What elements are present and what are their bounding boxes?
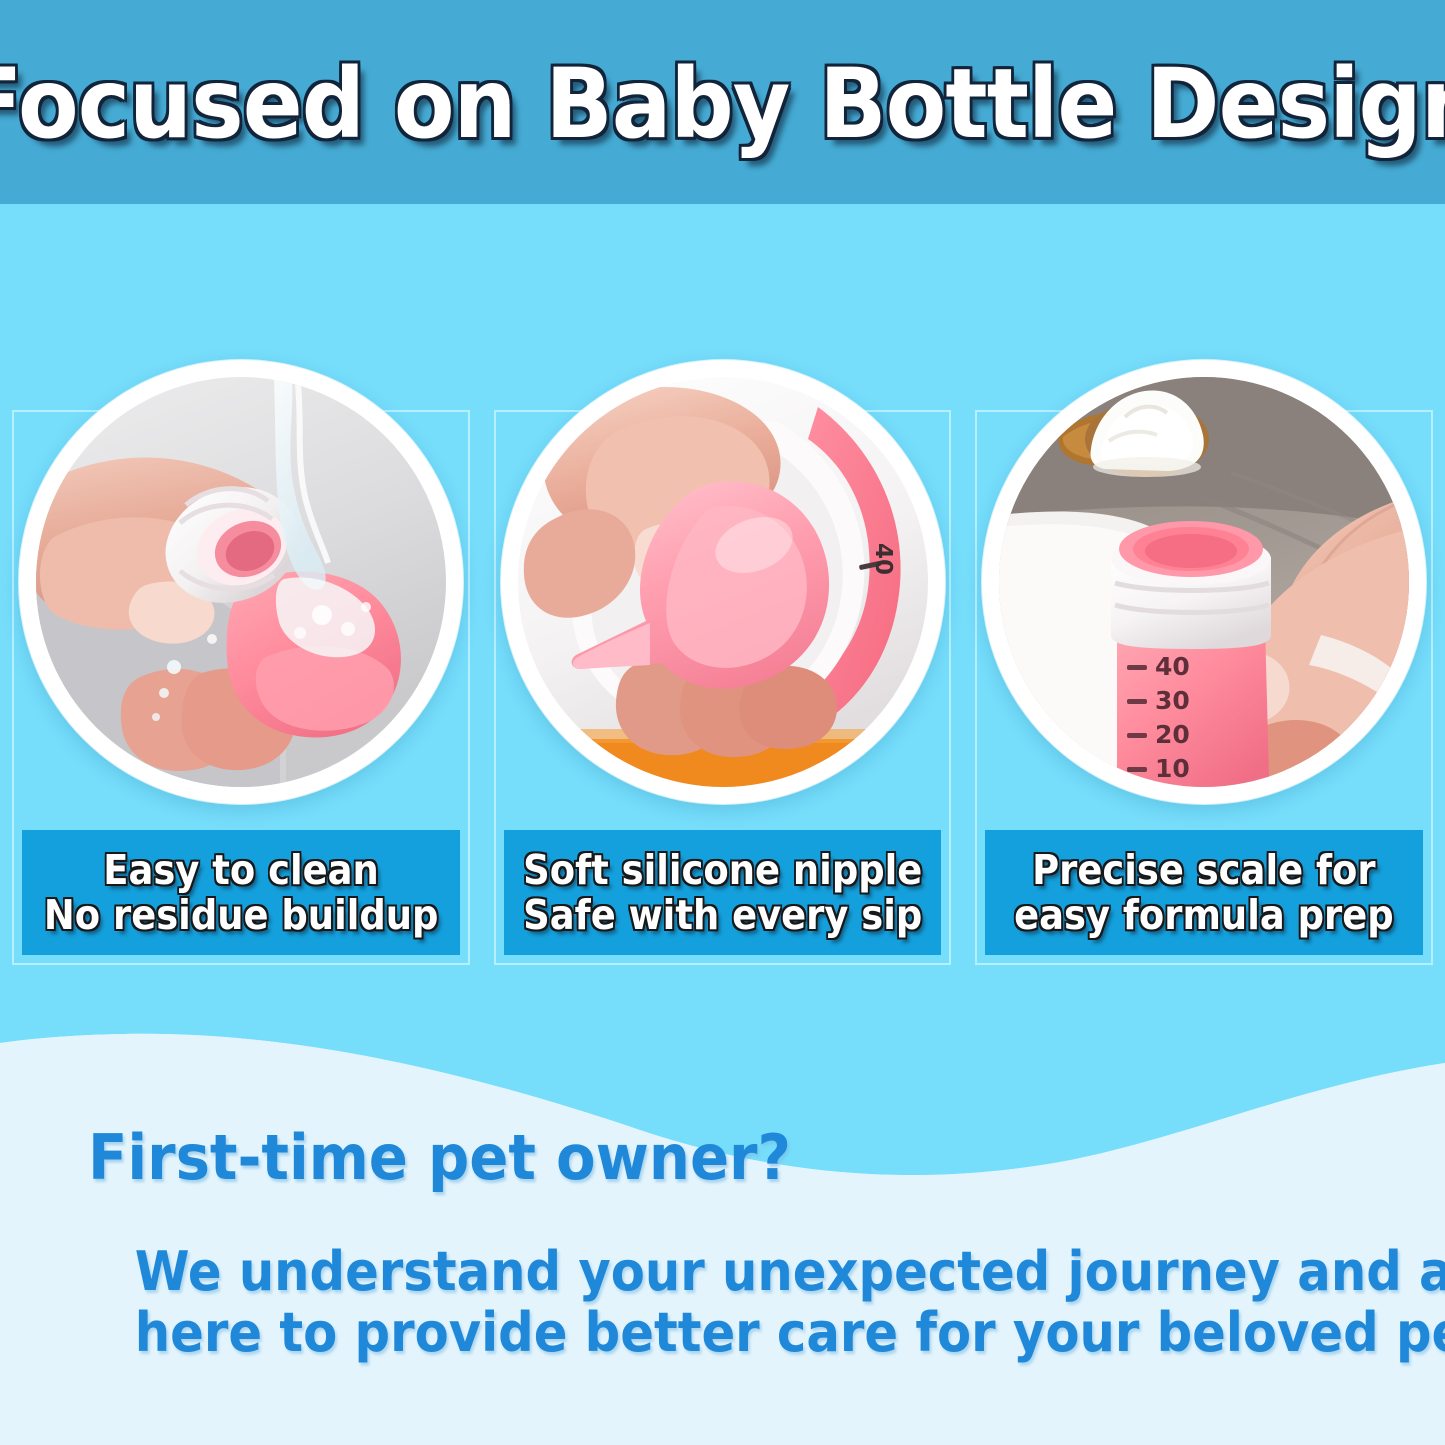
svg-text:40: 40	[1155, 652, 1190, 681]
feature-photo-2: 40	[501, 360, 945, 804]
photo-washing-bottle	[36, 377, 446, 787]
photo-clip: 40	[518, 377, 928, 787]
photo-squeezing-nipple: 40	[518, 377, 928, 787]
bottom-copy-block: First-time pet owner? We understand your…	[88, 1125, 1358, 1363]
svg-text:20: 20	[1155, 720, 1190, 749]
feature-photo-3: 40 30 20 10	[982, 360, 1426, 804]
caption-line-2: easy formula prep	[1014, 893, 1394, 937]
feature-card-soft-nipple: 40	[494, 360, 952, 975]
caption-line-2: Safe with every sip	[523, 893, 922, 937]
pet-owner-body-line-1: We understand your unexpected journey an…	[135, 1242, 1211, 1302]
svg-text:10: 10	[1155, 754, 1190, 783]
feature-card-row: Easy to clean No residue buildup	[0, 360, 1445, 975]
feature-caption-2: Soft silicone nipple Safe with every sip	[504, 830, 942, 955]
feature-card-easy-to-clean: Easy to clean No residue buildup	[12, 360, 470, 975]
page-title: Focused on Baby Bottle Design	[0, 56, 1445, 152]
pet-owner-body: We understand your unexpected journey an…	[88, 1242, 1258, 1363]
caption-line-1: Precise scale for	[1032, 848, 1375, 892]
caption-line-1: Easy to clean	[103, 848, 379, 892]
caption-line-1: Soft silicone nipple	[523, 848, 922, 892]
photo-clip: 40 30 20 10	[999, 377, 1409, 787]
feature-card-precise-scale: 40 30 20 10	[975, 360, 1433, 975]
svg-text:30: 30	[1155, 686, 1190, 715]
feature-caption-3: Precise scale for easy formula prep	[985, 830, 1423, 955]
scale-label-40: 40	[870, 543, 896, 575]
pet-owner-heading: First-time pet owner?	[88, 1125, 1269, 1190]
caption-line-2: No residue buildup	[44, 893, 439, 937]
pet-owner-body-line-2: here to provide better care for your bel…	[135, 1303, 1211, 1363]
photo-formula-scoop: 40 30 20 10	[999, 377, 1409, 787]
photo-clip	[36, 377, 446, 787]
feature-caption-1: Easy to clean No residue buildup	[22, 830, 460, 955]
header-band: Focused on Baby Bottle Design	[0, 0, 1445, 204]
feature-photo-1	[19, 360, 463, 804]
infographic-page: Focused on Baby Bottle Design	[0, 0, 1445, 1445]
